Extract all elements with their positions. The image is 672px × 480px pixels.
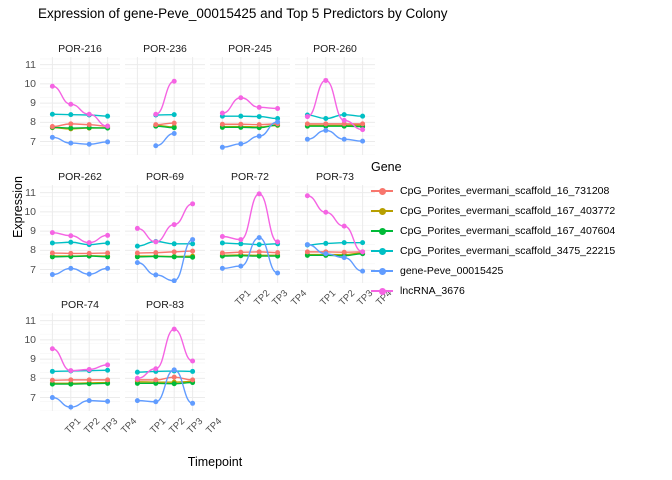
data-point [305,114,310,119]
x-tick-label: TP1 [233,288,253,308]
data-point [50,346,55,351]
legend-key-swatch-icon [371,264,393,278]
data-point [257,105,262,110]
data-point [68,240,73,245]
x-tick-row: TP1TP2TP3TP4 [210,286,290,326]
data-point [105,241,110,246]
data-point [190,255,195,260]
data-point [172,381,177,386]
data-point [172,125,177,130]
data-point [220,234,225,239]
data-point [68,377,73,382]
data-point [87,112,92,117]
data-point [275,106,280,111]
facet-panel-por-262: POR-262 [40,170,120,283]
facet-panel-por-245: POR-245 [210,42,290,155]
data-point [105,399,110,404]
data-point [238,141,243,146]
y-tick-column: 7891011 [10,185,36,283]
legend-item[interactable]: CpG_Porites_evermani_scaffold_16_731208 [371,181,671,201]
page-title: Expression of gene-Peve_00015425 and Top… [38,6,638,21]
plot-area [125,185,205,283]
legend-item[interactable]: CpG_Porites_evermani_scaffold_167_403772 [371,201,671,221]
data-point [135,370,140,375]
data-point [323,210,328,215]
y-tick-label: 11 [10,316,36,327]
x-tick-label: TP3 [185,416,205,436]
data-point [105,251,110,256]
data-point [135,376,140,381]
data-point [50,395,55,400]
plot-area [125,313,205,411]
facet-panel-por-216: POR-216 [40,42,120,155]
data-point [323,241,328,246]
facet-strip-label: POR-74 [40,298,120,312]
data-point [190,377,195,382]
data-point [323,121,328,126]
data-point [50,124,55,129]
legend-item-label: lncRNA_3676 [400,285,465,297]
legend-items: CpG_Porites_evermani_scaffold_16_731208C… [371,181,671,301]
data-point [68,112,73,117]
data-point [153,143,158,148]
data-point [190,237,195,242]
facet-panel-por-73: POR-73 [295,170,375,283]
data-point [275,239,280,244]
data-point [238,264,243,269]
y-tick-label: 7 [10,393,36,404]
legend-item-label: CpG_Porites_evermani_scaffold_16_731208 [400,185,609,197]
data-point [50,230,55,235]
data-point [135,226,140,231]
data-point [220,266,225,271]
facet-panel-por-69: POR-69 [125,170,205,283]
x-tick-row: TP1TP2TP3TP4 [40,414,120,454]
data-point [305,249,310,254]
data-point [87,398,92,403]
data-point [342,118,347,123]
data-point [238,237,243,242]
x-tick-label: TP2 [252,288,272,308]
data-point [172,222,177,227]
data-point [135,398,140,403]
data-point [238,114,243,119]
data-point [172,112,177,117]
data-point [342,240,347,245]
data-point [172,367,177,372]
data-point [68,121,73,126]
data-point [68,405,73,410]
data-point [257,134,262,139]
x-tick-label: TP2 [82,416,102,436]
plot-area [295,185,375,283]
legend-item-label: CpG_Porites_evermani_scaffold_3475_22215 [400,245,615,257]
facet-panel-por-72: POR-72 [210,170,290,283]
legend-key-swatch-icon [371,284,393,298]
data-point [153,366,158,371]
facet-strip-label: POR-260 [295,42,375,56]
data-point [50,369,55,374]
data-point [50,272,55,277]
data-point [105,368,110,373]
series-line [222,124,277,125]
data-point [238,122,243,127]
data-point [275,119,280,124]
legend-key-swatch-icon [371,184,393,198]
facet-strip-label: POR-245 [210,42,290,56]
data-point [172,278,177,283]
series-line [52,256,107,257]
data-point [190,401,195,406]
data-point [323,128,328,133]
data-point [342,255,347,260]
legend-item-label: CpG_Porites_evermani_scaffold_167_403772 [400,205,615,217]
data-point [190,359,195,364]
x-tick-label: TP1 [63,416,83,436]
data-point [323,78,328,83]
data-point [172,254,177,259]
data-point [323,251,328,256]
data-point [68,141,73,146]
x-axis-title: Timepoint [150,455,280,469]
data-point [342,224,347,229]
legend-title: Gene [371,160,671,174]
legend-key-swatch-icon [371,244,393,258]
data-point [305,137,310,142]
data-point [153,239,158,244]
legend-item[interactable]: CpG_Porites_evermani_scaffold_3475_22215 [371,241,671,261]
x-tick-label: TP1 [148,416,168,436]
data-point [87,240,92,245]
data-point [190,369,195,374]
data-point [342,137,347,142]
legend-item[interactable]: CpG_Porites_evermani_scaffold_167_407604 [371,221,671,241]
x-tick-row: TP1TP2TP3TP4 [125,414,205,454]
data-point [257,235,262,240]
data-point [105,377,110,382]
facet-strip-label: POR-262 [40,170,120,184]
data-point [68,368,73,373]
data-point [68,251,73,256]
data-point [172,121,177,126]
y-tick-label: 10 [10,335,36,346]
data-point [50,112,55,117]
legend-item-label: CpG_Porites_evermani_scaffold_167_407604 [400,225,615,237]
x-tick-label: TP3 [270,288,290,308]
y-tick-label: 8 [10,373,36,384]
y-tick-label: 7 [10,137,36,148]
data-point [342,250,347,255]
data-point [135,251,140,256]
y-tick-label: 10 [10,207,36,218]
data-point [172,375,177,380]
series-line [137,381,192,382]
data-point [360,269,365,274]
facet-strip-label: POR-236 [125,42,205,56]
data-point [172,241,177,246]
data-point [68,266,73,271]
data-point [153,399,158,404]
series-line [52,383,107,384]
data-point [275,271,280,276]
data-point [105,362,110,367]
facet-panel-por-74: POR-74 [40,298,120,411]
legend-item[interactable]: gene-Peve_00015425 [371,261,671,281]
data-point [50,241,55,246]
facet-strip-label: POR-73 [295,170,375,184]
legend-key-swatch-icon [371,224,393,238]
facet-strip-label: POR-69 [125,170,205,184]
facet-strip-label: POR-72 [210,170,290,184]
plot-area [210,185,290,283]
y-tick-label: 8 [10,245,36,256]
x-tick-label: TP3 [100,416,120,436]
data-point [153,112,158,117]
plot-area [210,57,290,155]
data-point [153,250,158,255]
x-tick-label: TP4 [204,416,224,436]
data-point [105,114,110,119]
plot-area [295,57,375,155]
data-point [87,122,92,127]
data-point [153,377,158,382]
y-tick-label: 10 [10,79,36,90]
data-point [220,122,225,127]
data-point [220,111,225,116]
data-point [360,249,365,254]
data-point [87,377,92,382]
legend-item-label: gene-Peve_00015425 [400,265,503,277]
data-point [87,367,92,372]
data-point [105,139,110,144]
legend-item[interactable]: lncRNA_3676 [371,281,671,301]
data-point [172,327,177,332]
facet-panel-por-83: POR-83 [125,298,205,411]
facet-strip-label: POR-216 [40,42,120,56]
data-point [68,102,73,107]
data-point [153,122,158,127]
data-point [220,241,225,246]
data-point [50,135,55,140]
data-point [105,266,110,271]
x-tick-label: TP2 [167,416,187,436]
data-point [305,121,310,126]
plot-area [40,313,120,411]
chart-container: Expression of gene-Peve_00015425 and Top… [0,0,672,480]
legend-key-swatch-icon [371,204,393,218]
data-point [305,193,310,198]
data-point [68,233,73,238]
data-point [220,145,225,150]
data-point [257,114,262,119]
data-point [360,139,365,144]
data-point [323,116,328,121]
legend: Gene CpG_Porites_evermani_scaffold_16_73… [371,160,671,301]
y-tick-label: 11 [10,188,36,199]
data-point [342,112,347,117]
data-point [87,272,92,277]
data-point [87,251,92,256]
data-point [105,233,110,238]
y-tick-label: 8 [10,117,36,128]
data-point [360,114,365,119]
data-point [257,191,262,196]
y-tick-label: 11 [10,60,36,71]
data-point [360,240,365,245]
facet-strip-label: POR-83 [125,298,205,312]
data-point [275,250,280,255]
data-point [360,121,365,126]
data-point [305,242,310,247]
data-point [50,251,55,256]
data-point [190,201,195,206]
data-point [153,272,158,277]
data-point [135,244,140,249]
y-tick-column: 7891011 [10,57,36,155]
y-tick-label: 7 [10,265,36,276]
data-point [257,242,262,247]
data-point [257,249,262,254]
plot-area [125,57,205,155]
y-tick-column: 7891011 [10,313,36,411]
x-tick-label: TP1 [318,288,338,308]
plot-area [40,185,120,283]
data-point [50,378,55,383]
plot-area [40,57,120,155]
y-tick-label: 9 [10,354,36,365]
facet-panel-por-260: POR-260 [295,42,375,155]
y-tick-label: 9 [10,226,36,237]
data-point [87,142,92,147]
x-tick-label: TP2 [337,288,357,308]
data-point [238,250,243,255]
data-point [238,95,243,100]
data-point [105,124,110,129]
data-point [172,79,177,84]
data-point [50,84,55,89]
data-point [360,127,365,132]
x-tick-row: TP1TP2TP3TP4 [295,286,375,326]
data-point [257,122,262,127]
y-tick-label: 9 [10,98,36,109]
data-point [135,260,140,265]
facet-panel-por-236: POR-236 [125,42,205,155]
data-point [172,131,177,136]
data-point [172,249,177,254]
data-point [190,249,195,254]
series-line [52,127,107,128]
data-point [220,251,225,256]
